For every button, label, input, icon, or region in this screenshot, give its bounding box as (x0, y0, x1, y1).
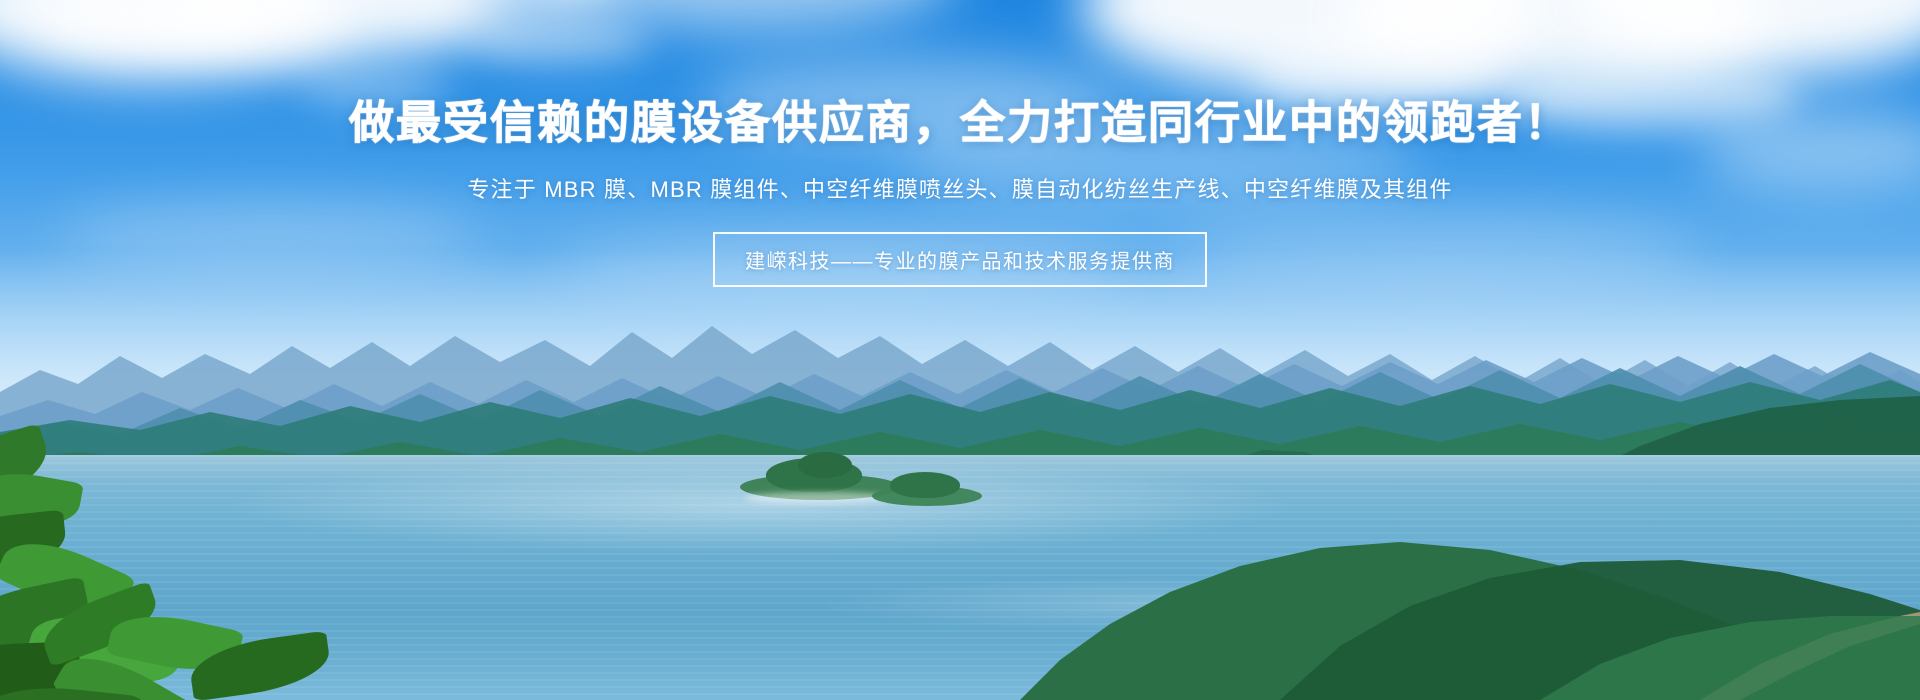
tree-branch-icon-lower (40, 600, 340, 700)
hero-banner: 做最受信赖的膜设备供应商，全力打造同行业中的领跑者！ 专注于 MBR 膜、MBR… (0, 0, 1920, 700)
